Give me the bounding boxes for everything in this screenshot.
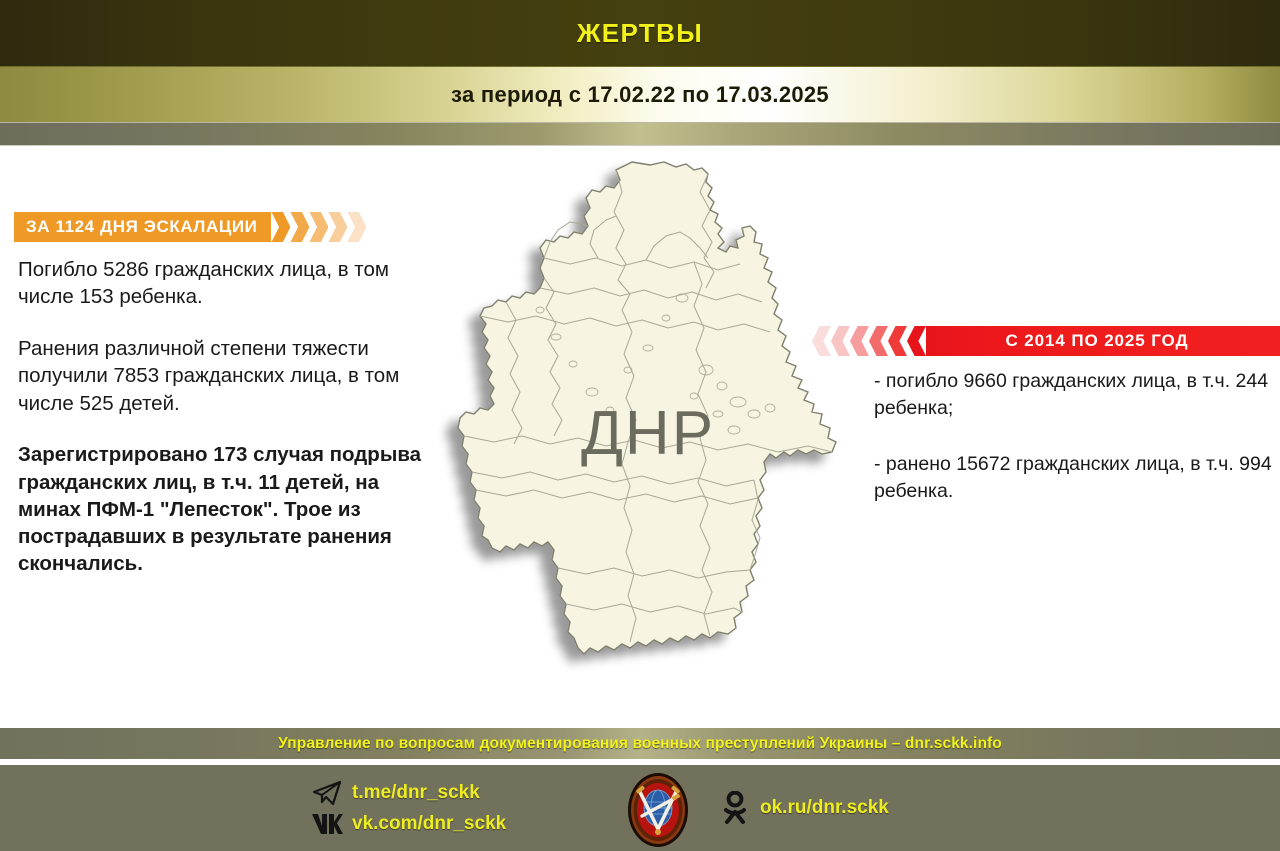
escalation-banner: ЗА 1124 ДНЯ ЭСКАЛАЦИИ [14, 212, 366, 242]
right-paragraph-1: - погибло 9660 гражданских лица, в т.ч. … [874, 368, 1274, 421]
social-link-telegram[interactable]: t.me/dnr_sckk [310, 777, 506, 808]
header-gold-band: за период с 17.02.22 по 17.03.2025 [0, 66, 1280, 122]
chevron-right-icon [290, 212, 309, 242]
chevron-left-icon [812, 326, 831, 356]
social-label-odnoklassniki: ok.ru/dnr.sckk [760, 797, 889, 819]
chevron-left-icon [907, 326, 926, 356]
social-label-telegram: t.me/dnr_sckk [352, 782, 480, 804]
escalation-chevrons [271, 212, 366, 242]
page-title: ЖЕРТВЫ [577, 18, 703, 49]
left-paragraph-2: Ранения различной степени тяжести получи… [18, 335, 430, 417]
chevron-right-icon [309, 212, 328, 242]
social-label-vk: vk.com/dnr_sckk [352, 813, 506, 835]
period-banner-label: С 2014 ПО 2025 ГОД [1006, 331, 1189, 351]
period-banner-bar: С 2014 ПО 2025 ГОД [926, 326, 1280, 356]
chevron-right-icon [347, 212, 366, 242]
left-paragraph-1: Погибло 5286 гражданских лица, в том чис… [18, 256, 430, 311]
left-paragraph-3: Зарегистрировано 173 случая подрыва граж… [18, 441, 430, 577]
chevron-left-icon [869, 326, 888, 356]
period-2014-2025-banner: С 2014 ПО 2025 ГОД [812, 326, 1280, 356]
header-subtitle: за период с 17.02.22 по 17.03.2025 [451, 82, 829, 108]
odnoklassniki-icon [718, 794, 752, 822]
footer-organization-text: Управление по вопросам документирования … [278, 735, 1002, 753]
chevron-left-icon [850, 326, 869, 356]
chevron-right-icon [271, 212, 290, 242]
social-link-odnoklassniki[interactable]: ok.ru/dnr.sckk [718, 793, 889, 824]
social-group-right: ok.ru/dnr.sckk [718, 765, 889, 851]
social-link-vk[interactable]: vk.com/dnr_sckk [310, 808, 506, 839]
social-group-left: t.me/dnr_sckk vk.com/dnr_sckk [310, 765, 506, 851]
chevron-right-icon [328, 212, 347, 242]
telegram-icon [310, 779, 344, 807]
dnr-map: ДНР [418, 152, 878, 712]
right-statistics-column: - погибло 9660 гражданских лица, в т.ч. … [874, 368, 1274, 534]
footer-organization-bar: Управление по вопросам документирования … [0, 728, 1280, 762]
header-olive-divider [0, 122, 1280, 146]
right-paragraph-2: - ранено 15672 гражданских лица, в т.ч. … [874, 451, 1274, 504]
chevron-left-icon [831, 326, 850, 356]
vk-icon [310, 810, 344, 838]
left-statistics-column: Погибло 5286 гражданских лица, в том чис… [18, 256, 430, 602]
footer-social-strip: t.me/dnr_sckk vk.com/dnr_sckk [0, 765, 1280, 851]
chevron-left-icon [888, 326, 907, 356]
escalation-banner-bar: ЗА 1124 ДНЯ ЭСКАЛАЦИИ [14, 212, 271, 242]
main-content: ДНР ЗА 1124 ДНЯ ЭСКАЛАЦИИ Погибло 5286 г… [0, 146, 1280, 718]
period-chevrons [812, 326, 926, 356]
infographic-poster: ЖЕРТВЫ за период с 17.02.22 по 17.03.202… [0, 0, 1280, 851]
map-outline [458, 162, 836, 654]
escalation-banner-label: ЗА 1124 ДНЯ ЭСКАЛАЦИИ [26, 217, 257, 237]
header-dark-band: ЖЕРТВЫ [0, 0, 1280, 66]
sckk-emblem [620, 772, 696, 848]
